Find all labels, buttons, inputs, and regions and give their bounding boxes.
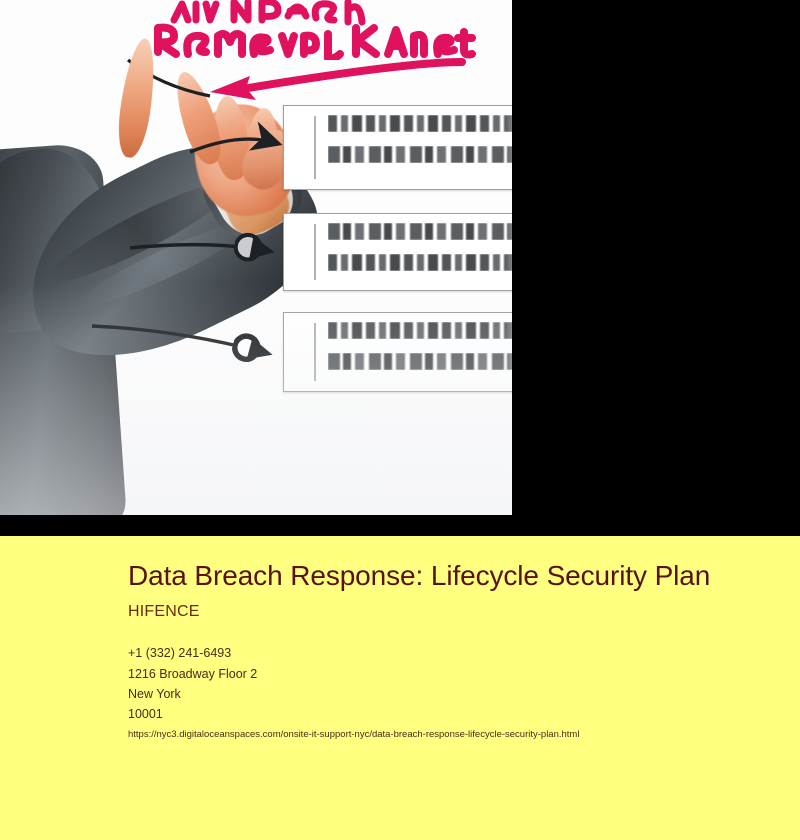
box-2-text	[328, 223, 512, 271]
contact-city: New York	[128, 684, 758, 704]
pink-arrow-icon	[196, 58, 496, 106]
organization-name: HIFENCE	[128, 603, 758, 621]
box-1-tick	[314, 116, 316, 179]
box-3-line-1	[328, 322, 512, 339]
contact-phone: +1 (332) 241-6493	[128, 643, 758, 663]
box-1-line-2	[328, 146, 512, 163]
contact-zip: 10001	[128, 704, 758, 724]
diagram-box-3	[283, 312, 512, 392]
hero-section	[0, 0, 800, 536]
info-panel-content: Data Breach Response: Lifecycle Security…	[128, 560, 758, 740]
hero-photo	[0, 0, 512, 515]
contact-street: 1216 Broadway Floor 2	[128, 664, 758, 684]
contact-details: +1 (332) 241-6493 1216 Broadway Floor 2 …	[128, 643, 758, 724]
info-panel: Data Breach Response: Lifecycle Security…	[0, 536, 800, 840]
source-url[interactable]: https://nyc3.digitaloceanspaces.com/onsi…	[128, 729, 758, 740]
box-3-line-2	[328, 353, 512, 370]
diagram-box-2	[283, 213, 512, 291]
box-2-line-2	[328, 254, 512, 271]
box-3-tick	[314, 323, 316, 381]
box-1-line-1	[328, 115, 512, 132]
box-2-tick	[314, 224, 316, 280]
box-1-text	[328, 115, 512, 163]
box-2-line-1	[328, 223, 512, 240]
box-3-text	[328, 322, 512, 370]
diagram-box-1	[283, 105, 512, 190]
page-root: Data Breach Response: Lifecycle Security…	[0, 0, 800, 840]
page-title: Data Breach Response: Lifecycle Security…	[128, 560, 758, 591]
